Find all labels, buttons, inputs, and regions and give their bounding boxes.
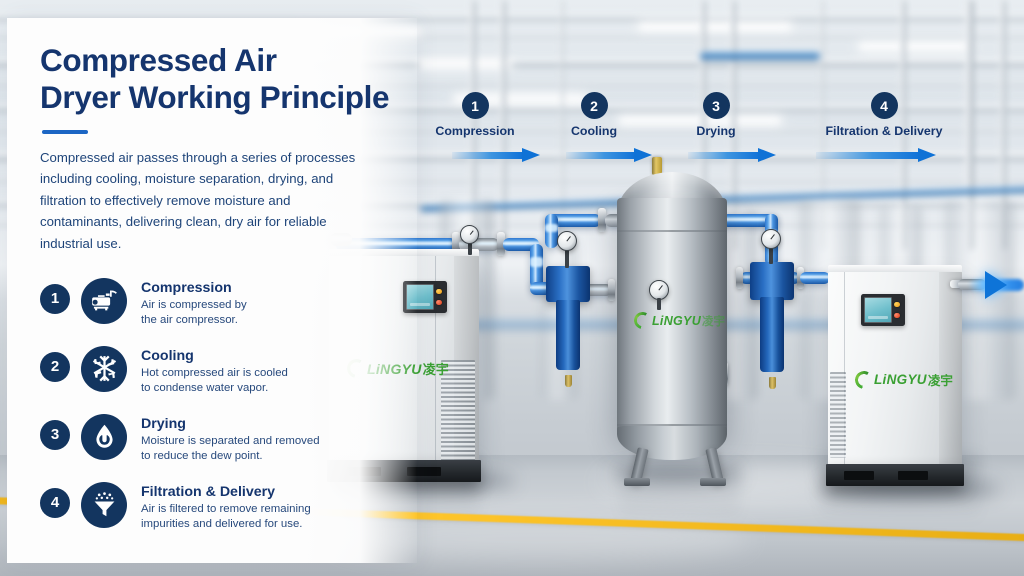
step-number: 1	[40, 284, 70, 314]
compressor-icon	[81, 278, 127, 324]
gauge-stem	[657, 298, 661, 310]
step-desc-line-2: to condense water vapor.	[141, 382, 268, 394]
pressure-gauge	[557, 231, 577, 251]
flow-marker-4: 4 Filtration & Delivery	[812, 92, 956, 138]
gauge-stem	[468, 243, 472, 255]
pipe-segment	[800, 272, 830, 284]
arrow-head	[634, 148, 652, 162]
step-desc-line-1: Moisture is separated and removed	[141, 435, 320, 447]
step-desc-line-1: Air is compressed by	[141, 299, 247, 311]
tank-pressure-gauge	[649, 280, 669, 300]
tank-foot-pad	[700, 478, 726, 486]
step-item-2: 2 Cooling Hot compressed ai	[40, 346, 390, 397]
step-number: 2	[40, 352, 70, 382]
arrow-head	[758, 148, 776, 162]
filter-head	[546, 266, 590, 302]
flow-badge-number: 2	[581, 92, 608, 119]
filter-drain-valve	[565, 375, 572, 387]
left-precision-filter	[551, 266, 585, 378]
pipe-flange	[736, 267, 743, 289]
flow-badge-number: 1	[462, 92, 489, 119]
arrow-shaft	[816, 152, 919, 159]
title-line-2: Dryer Working Principle	[40, 79, 389, 115]
tank-weld-seam	[617, 230, 727, 232]
step-number: 4	[40, 488, 70, 518]
flow-arrow-3	[688, 148, 776, 163]
step-desc-line-2: to reduce the dew point.	[141, 450, 263, 462]
filter-drain-valve	[769, 377, 776, 389]
brand-wordmark-cn: 凌宇	[702, 313, 725, 329]
arrow-shaft	[566, 152, 635, 159]
amber-indicator-button[interactable]	[894, 302, 899, 307]
step-desc-line-1: Air is filtered to remove remaining	[141, 503, 311, 515]
title-divider	[42, 130, 88, 134]
step-desc-line-1: Hot compressed air is cooled	[141, 367, 288, 379]
step-title: Filtration & Delivery	[141, 484, 311, 500]
infographic-canvas: LiNGYU 凌宇 LiNGYU	[0, 0, 1024, 576]
step-description: Hot compressed air is cooled to condense…	[141, 366, 288, 397]
step-title: Drying	[141, 416, 320, 432]
arrow-shaft	[688, 152, 759, 159]
brand-wordmark-cn: 凌宇	[423, 359, 449, 378]
flow-arrow-1	[452, 148, 540, 163]
flow-badge-number: 4	[871, 92, 898, 119]
filter-head	[750, 262, 794, 300]
brand-wordmark-cn: 凌宇	[928, 370, 953, 389]
brand-wordmark: LiNGYU	[652, 314, 701, 328]
right-precision-filter	[755, 262, 789, 380]
flow-marker-label: Compression	[433, 124, 517, 138]
step-desc-line-2: the air compressor.	[141, 314, 238, 326]
outlet-flow-arrow	[985, 271, 1007, 299]
funnel-filter-icon	[81, 482, 127, 528]
panel-buttons[interactable]	[434, 284, 444, 310]
step-description: Moisture is separated and removed to red…	[141, 434, 320, 465]
tank-foot-pad	[624, 478, 650, 486]
air-receiver-tank: LiNGYU 凌宇	[617, 172, 727, 460]
leaf-mark-icon	[632, 310, 653, 331]
step-item-1: 1 Compression Air is compressed by	[40, 278, 390, 329]
flow-badge-number: 3	[703, 92, 730, 119]
flow-marker-label: Cooling	[554, 124, 634, 138]
flow-marker-label: Filtration & Delivery	[812, 124, 956, 138]
cabinet-vent-grille	[830, 372, 846, 458]
flow-arrow-2	[566, 148, 652, 163]
red-stop-button[interactable]	[894, 313, 899, 318]
step-description: Air is compressed by the air compressor.	[141, 298, 247, 329]
amber-indicator-button[interactable]	[436, 289, 441, 294]
steps-list: 1 Compression Air is compressed by	[40, 278, 390, 533]
filter-bowl	[760, 297, 785, 371]
pressure-gauge	[460, 225, 479, 244]
red-stop-button[interactable]	[436, 300, 441, 305]
step-description: Air is filtered to remove remaining impu…	[141, 502, 311, 533]
arrow-head	[918, 148, 936, 162]
arrow-head	[522, 148, 540, 162]
info-panel: Compressed Air Dryer Working Principle C…	[7, 18, 417, 563]
gauge-stem	[565, 248, 569, 268]
flow-marker-2: 2 Cooling	[554, 92, 634, 138]
flow-marker-label: Drying	[678, 124, 754, 138]
brand-wordmark: LiNGYU	[874, 372, 927, 387]
filter-bowl	[556, 300, 581, 371]
pressure-gauge	[761, 229, 781, 249]
step-item-4: 4 Filtration & Delivery Air	[40, 482, 390, 533]
page-title: Compressed Air Dryer Working Principle	[40, 42, 390, 115]
pipe-flange	[608, 279, 615, 301]
arrow-shaft	[452, 152, 523, 159]
step-title: Compression	[141, 280, 247, 296]
flow-arrow-4	[816, 148, 936, 163]
right-air-dryer-unit: LiNGYU 凌宇	[828, 272, 962, 472]
flow-marker-1: 1 Compression	[433, 92, 517, 138]
step-number: 3	[40, 420, 70, 450]
cabinet-base-frame	[826, 464, 964, 486]
step-desc-line-2: impurities and delivered for use.	[141, 518, 302, 530]
lcd-display	[864, 297, 892, 323]
pipe-riser	[545, 214, 558, 248]
flow-marker-3: 3 Drying	[678, 92, 754, 138]
step-item-3: 3 Drying Moisture is separated and remov…	[40, 414, 390, 465]
leaf-mark-icon	[853, 368, 876, 391]
step-title: Cooling	[141, 348, 288, 364]
control-panel[interactable]	[861, 294, 905, 326]
brand-logo: LiNGYU 凌宇	[855, 370, 953, 389]
intro-paragraph: Compressed air passes through a series o…	[40, 147, 358, 254]
water-drop-icon	[81, 414, 127, 460]
title-line-1: Compressed Air	[40, 42, 277, 78]
panel-buttons[interactable]	[892, 297, 902, 323]
snowflake-icon	[81, 346, 127, 392]
brand-logo: LiNGYU 凌宇	[634, 312, 725, 329]
